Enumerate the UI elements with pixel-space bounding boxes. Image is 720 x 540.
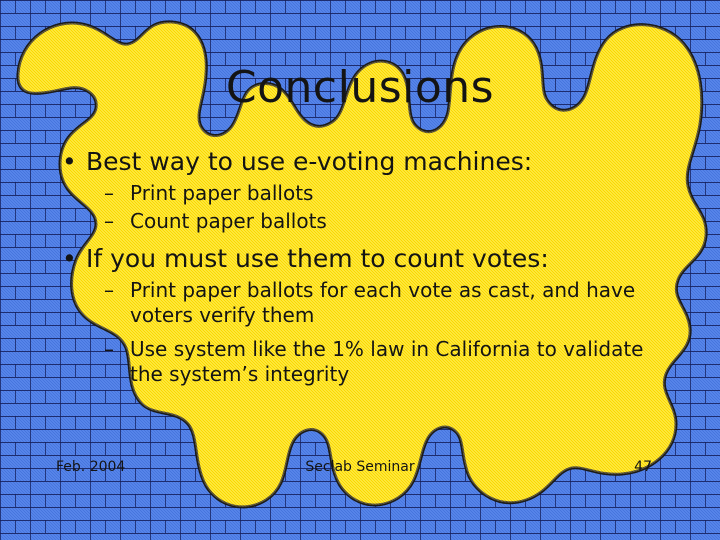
footer-page-number: 47 xyxy=(634,455,652,479)
bullet-level1: • Best way to use e-voting machines: xyxy=(52,146,652,178)
bullet-text: Use system like the 1% law in California… xyxy=(130,337,643,386)
footer-event-name: Seclab Seminar xyxy=(0,455,720,479)
bullet-level2: – Print paper ballots xyxy=(52,181,652,206)
bullet-level2: – Count paper ballots xyxy=(52,209,652,234)
dash-marker-icon: – xyxy=(104,337,114,362)
bullet-text: Count paper ballots xyxy=(130,209,327,233)
bullet-level2: – Print paper ballots for each vote as c… xyxy=(52,278,652,328)
slide-body: • Best way to use e-voting machines: – P… xyxy=(52,146,652,387)
dash-marker-icon: – xyxy=(104,181,114,206)
dash-marker-icon: – xyxy=(104,209,114,234)
slide-footer: Feb. 2004 Seclab Seminar 47 xyxy=(0,455,720,479)
bullet-marker-icon: • xyxy=(62,243,77,275)
bullet-text: Print paper ballots xyxy=(130,181,313,205)
bullet-level2: – Use system like the 1% law in Californ… xyxy=(52,337,652,387)
presentation-slide: Conclusions • Best way to use e-voting m… xyxy=(0,0,720,540)
bullet-text: Print paper ballots for each vote as cas… xyxy=(130,278,635,327)
bullet-text: If you must use them to count votes: xyxy=(86,244,549,273)
dash-marker-icon: – xyxy=(104,278,114,303)
bullet-level1: • If you must use them to count votes: xyxy=(52,243,652,275)
bullet-text: Best way to use e-voting machines: xyxy=(86,147,532,176)
slide-content: Conclusions • Best way to use e-voting m… xyxy=(0,0,720,540)
bullet-marker-icon: • xyxy=(62,146,77,178)
slide-title: Conclusions xyxy=(0,62,720,114)
